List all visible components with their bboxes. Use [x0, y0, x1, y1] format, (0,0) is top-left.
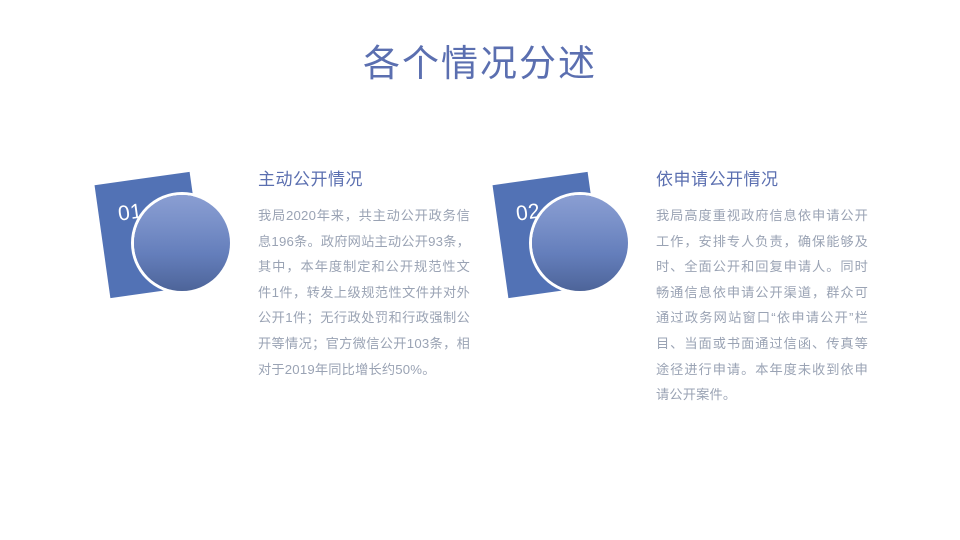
- badge-circle-icon: [134, 195, 230, 291]
- slide-canvas: 各个情况分述 01 主动公开情况 我局2020年来，共主动公开政务信息196条。…: [0, 0, 960, 540]
- content-block-1: 01 主动公开情况 我局2020年来，共主动公开政务信息196条。政府网站主动公…: [96, 160, 476, 410]
- content-block-2: 02 依申请公开情况 我局高度重视政府信息依申请公开工作，安排专人负责，确保能够…: [494, 160, 874, 410]
- block-heading-2: 依申请公开情况: [656, 168, 868, 192]
- block-heading-1: 主动公开情况: [258, 168, 470, 192]
- badge-01: 01: [96, 160, 248, 305]
- text-column-1: 主动公开情况 我局2020年来，共主动公开政务信息196条。政府网站主动公开93…: [258, 160, 470, 382]
- block-body-2: 我局高度重视政府信息依申请公开工作，安排专人负责，确保能够及时、全面公开和回复申…: [656, 203, 868, 408]
- text-column-2: 依申请公开情况 我局高度重视政府信息依申请公开工作，安排专人负责，确保能够及时、…: [656, 160, 868, 408]
- badge-02: 02: [494, 160, 646, 305]
- block-body-1: 我局2020年来，共主动公开政务信息196条。政府网站主动公开93条，其中，本年…: [258, 203, 470, 382]
- badge-circle-icon: [532, 195, 628, 291]
- page-title: 各个情况分述: [0, 42, 960, 86]
